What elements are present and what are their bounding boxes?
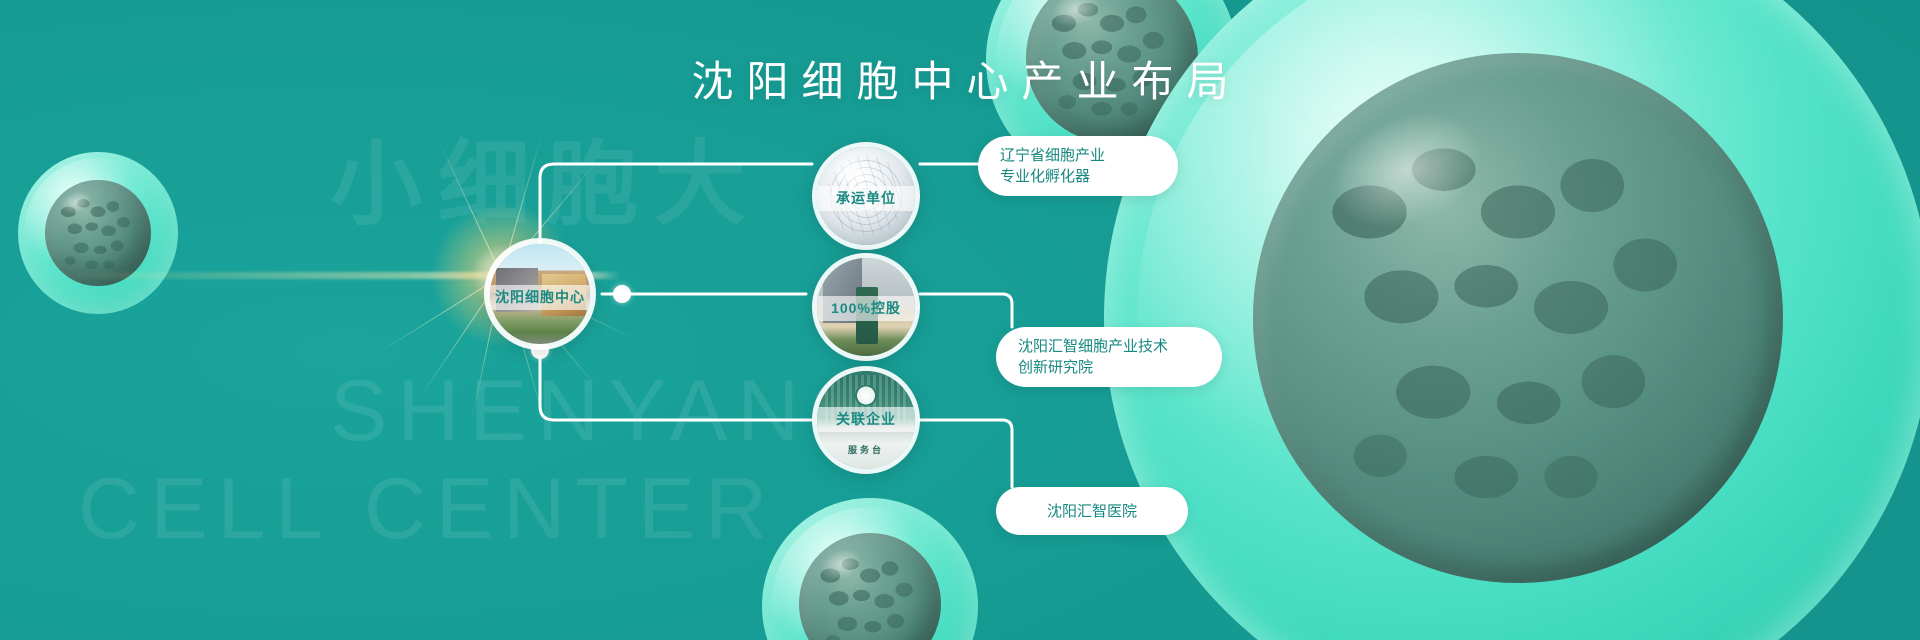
- cell-illustration-left: [18, 152, 178, 314]
- branch-label-carrier-unit: 承运单位: [817, 186, 915, 211]
- branch-sublabel-affiliate: 服务台: [817, 443, 915, 456]
- cell-nucleus: [45, 180, 151, 287]
- cell-nucleus: [1253, 53, 1783, 583]
- page-title: 沈阳细胞中心产业布局: [0, 48, 1920, 109]
- cell-cytoplasm: [18, 152, 178, 314]
- pill-text-holding: 沈阳汇智细胞产业技术 创新研究院: [1018, 336, 1168, 378]
- pill-label-holding[interactable]: 沈阳汇智细胞产业技术 创新研究院: [996, 327, 1222, 387]
- watermark-english-line2: CELL CENTER: [78, 460, 777, 559]
- branch-label-holding: 100%控股: [817, 296, 915, 321]
- watermark-english-line1: SHENYANG: [330, 362, 886, 461]
- connector-line-pill-middle: [920, 294, 1012, 327]
- connector-line-pill-bottom: [920, 420, 1012, 487]
- cell-illustration-bottom: [762, 498, 978, 640]
- branch-label-affiliate: 关联企业: [817, 407, 915, 432]
- watermark-chinese: 小细胞大: [330, 110, 762, 243]
- banner-stage: 小细胞大 SHENYANG CELL CENTER 沈阳细胞中心产业布局: [0, 0, 1920, 640]
- pill-text-affiliate: 沈阳汇智医院: [1047, 501, 1137, 522]
- hub-node-shenyang-cell-center[interactable]: 沈阳细胞中心: [484, 238, 596, 350]
- pill-label-carrier-unit[interactable]: 辽宁省细胞产业 专业化孵化器: [978, 136, 1178, 196]
- cell-cytoplasm: [762, 498, 978, 640]
- hub-label: 沈阳细胞中心: [490, 285, 590, 310]
- cell-nucleus: [799, 533, 942, 640]
- branch-node-affiliate[interactable]: 关联企业 服务台: [812, 366, 920, 474]
- pill-label-affiliate[interactable]: 沈阳汇智医院: [996, 487, 1188, 535]
- pill-text-carrier-unit: 辽宁省细胞产业 专业化孵化器: [1000, 145, 1105, 187]
- branch-node-holding[interactable]: 100%控股: [812, 253, 920, 361]
- branch-node-carrier-unit[interactable]: 承运单位: [812, 142, 920, 250]
- connector-node-middle: [613, 285, 631, 303]
